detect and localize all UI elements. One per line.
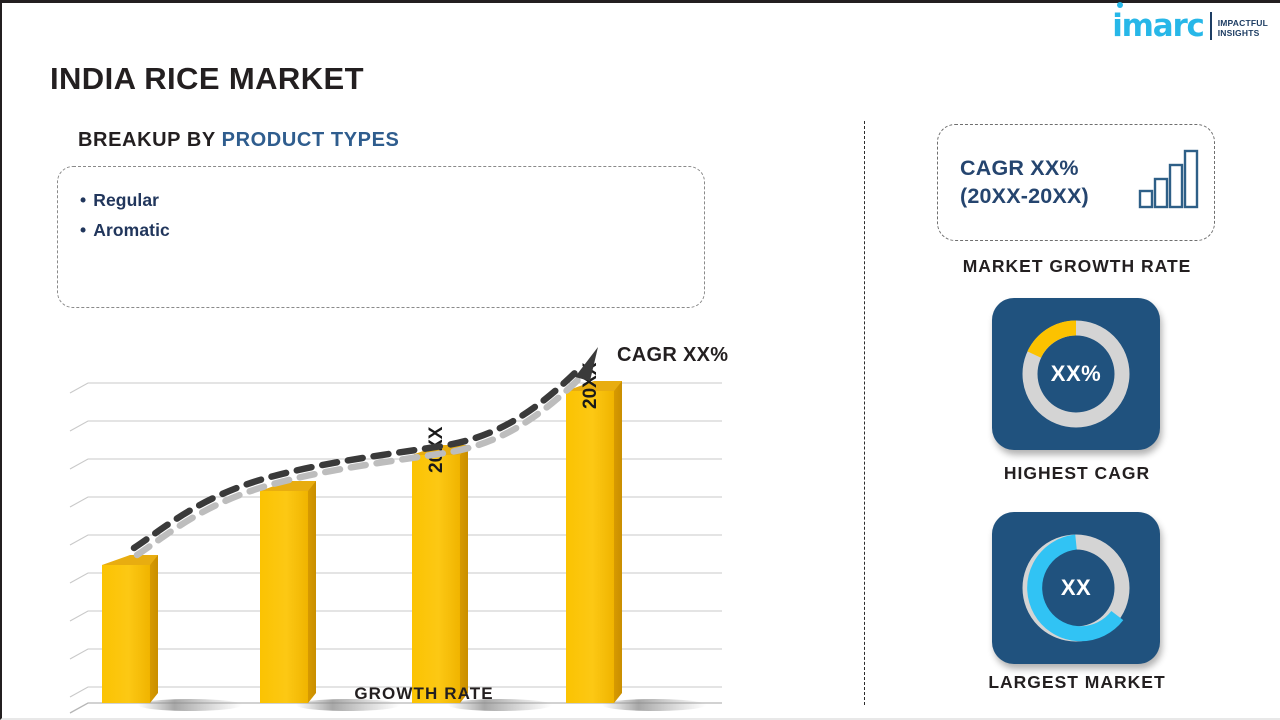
bar-chart-icon — [1138, 147, 1200, 218]
logo-wordmark: imarc — [1112, 11, 1208, 42]
logo-tagline-line1: IMPACTFUL — [1218, 18, 1268, 29]
list-item: Aromatic — [80, 215, 704, 245]
bar-2 — [260, 481, 316, 703]
chart-gridlines — [70, 383, 722, 697]
subtitle-accent: PRODUCT TYPES — [222, 129, 400, 151]
chart-svg: 20XX 20XX — [62, 333, 762, 720]
bar-1 — [102, 555, 158, 703]
highest-cagr-tile: XX% — [992, 298, 1160, 450]
market-growth-rate-box: CAGR XX% (20XX-20XX) — [937, 124, 1215, 241]
section-subtitle: BREAKUP BY PRODUCT TYPES — [78, 129, 400, 152]
logo-tagline-line2: INSIGHTS — [1218, 28, 1268, 39]
vertical-divider — [864, 121, 865, 705]
breakup-list-box: Regular Aromatic — [57, 166, 705, 308]
chart-trendline — [134, 347, 598, 555]
cagr-callout-label: CAGR XX% — [617, 344, 728, 367]
slide-canvas: imarc IMPACTFUL INSIGHTS INDIA RICE MARK… — [0, 0, 1280, 720]
page-title: INDIA RICE MARKET — [50, 61, 364, 97]
bar-3: 20XX — [412, 426, 468, 703]
growth-box-line1: CAGR XX% — [960, 155, 1089, 183]
largest-market-tile: XX — [992, 512, 1160, 664]
growth-rate-chart: 20XX 20XX — [62, 333, 762, 720]
growth-box-line2: (20XX-20XX) — [960, 183, 1089, 211]
highest-cagr-value: XX% — [1051, 361, 1101, 387]
caption-highest-cagr: HIGHEST CAGR — [897, 463, 1257, 484]
bar-4: 20XX — [566, 362, 622, 703]
caption-market-growth-rate: MARKET GROWTH RATE — [897, 256, 1257, 277]
logo-wordmark-text: imarc — [1112, 8, 1204, 44]
caption-largest-market: LARGEST MARKET — [897, 672, 1257, 693]
imarc-logo: imarc IMPACTFUL INSIGHTS — [1112, 11, 1268, 42]
list-item: Regular — [80, 185, 704, 215]
growth-box-text: CAGR XX% (20XX-20XX) — [960, 155, 1089, 210]
logo-tagline: IMPACTFUL INSIGHTS — [1218, 18, 1268, 42]
breakup-list: Regular Aromatic — [58, 167, 704, 245]
chart-x-axis-label: GROWTH RATE — [292, 684, 556, 704]
largest-market-value: XX — [1061, 575, 1091, 601]
subtitle-prefix: BREAKUP BY — [78, 129, 222, 151]
logo-divider — [1210, 12, 1212, 40]
